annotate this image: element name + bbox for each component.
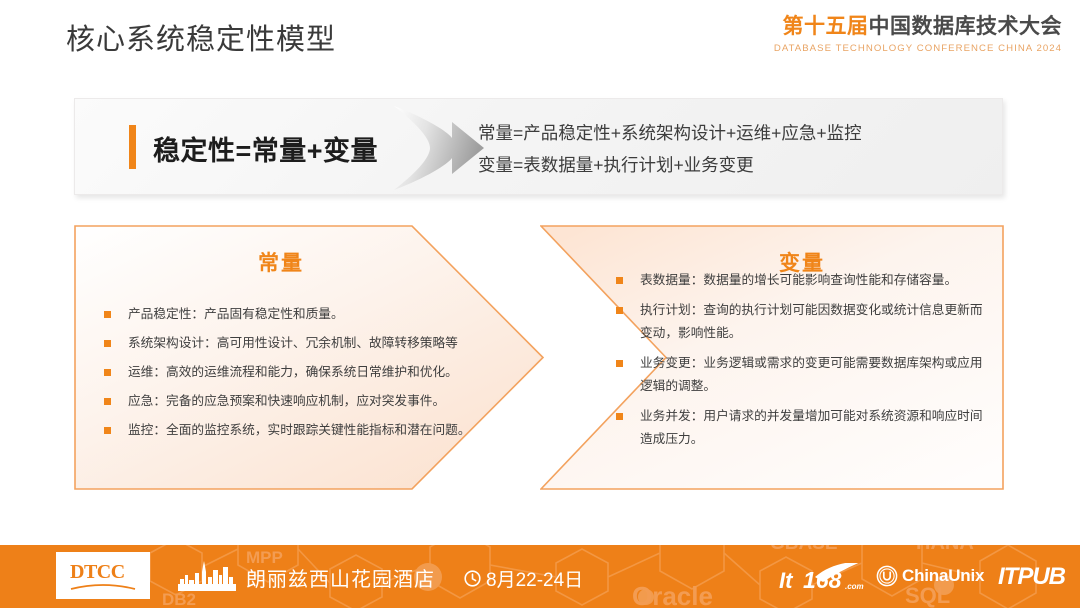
list-item: 业务并发：用户请求的并发量增加可能对系统资源和响应时间造成压力。	[612, 405, 984, 451]
panel-constants-list: 产品稳定性：产品固有稳定性和质量。 系统架构设计：高可用性设计、冗余机制、故障转…	[100, 303, 500, 448]
svg-text:GBASE: GBASE	[770, 545, 838, 554]
list-item: 表数据量：数据量的增长可能影响查询性能和存储容量。	[612, 269, 984, 292]
panel-variables-list: 表数据量：数据量的增长可能影响查询性能和存储容量。 执行计划：查询的执行计划可能…	[612, 269, 984, 458]
conference-name: 第十五届中国数据库技术大会	[774, 16, 1062, 37]
list-item: 执行计划：查询的执行计划可能因数据变化或统计信息更新而变动，影响性能。	[612, 299, 984, 345]
conference-logo: 第十五届中国数据库技术大会 DATABASE TECHNOLOGY CONFER…	[774, 16, 1062, 54]
list-item: 运维：高效的运维流程和能力，确保系统日常维护和优化。	[100, 361, 500, 384]
accent-bar	[129, 125, 136, 169]
list-item: 产品稳定性：产品固有稳定性和质量。	[100, 303, 500, 326]
conference-name-dark: 中国数据库技术大会	[869, 15, 1063, 38]
list-item: 业务变更：业务逻辑或需求的变更可能需要数据库架构或应用逻辑的调整。	[612, 352, 984, 398]
slide-root: 核心系统稳定性模型 第十五届中国数据库技术大会 DATABASE TECHNOL…	[0, 0, 1080, 608]
clock-icon	[464, 570, 481, 587]
panel-variables: 变量 表数据量：数据量的增长可能影响查询性能和存储容量。 执行计划：查询的执行计…	[540, 225, 1004, 490]
svg-text:It: It	[779, 568, 794, 591]
list-item: 应急：完备的应急预案和快速响应机制，应对突发事件。	[100, 390, 500, 413]
list-item: 系统架构设计：高可用性设计、冗余机制、故障转移策略等	[100, 332, 500, 355]
itpub-text: ITPUB	[998, 563, 1065, 590]
chinaunix-logo: ChinaUnix	[876, 565, 984, 587]
footer-venue: 朗丽兹西山花园酒店	[246, 563, 435, 592]
svg-text:HANA: HANA	[916, 545, 974, 554]
svg-text:.com: .com	[845, 582, 864, 591]
itpub-logo: ITPUB	[998, 563, 1065, 591]
dtcc-logo-swoosh	[70, 583, 136, 591]
conference-name-highlight: 第十五届	[783, 15, 869, 38]
chinaunix-text: ChinaUnix	[902, 566, 984, 586]
conference-subtitle: DATABASE TECHNOLOGY CONFERENCE CHINA 202…	[774, 44, 1062, 54]
svg-text:168: 168	[803, 567, 842, 591]
dtcc-logo-text: DTCC	[70, 561, 136, 584]
chinaunix-mark-icon	[876, 565, 898, 587]
panel-constants: 常量 产品稳定性：产品固有稳定性和质量。 系统架构设计：高可用性设计、冗余机制、…	[74, 225, 544, 490]
panel-constants-heading: 常量	[46, 247, 516, 277]
footer-bar: MPP DB2 Oracle SQL HANA GBASE DTCC	[0, 545, 1080, 608]
svg-text:DB2: DB2	[162, 590, 196, 608]
footer-date-group: 8月22-24日	[464, 565, 583, 592]
page-title: 核心系统稳定性模型	[66, 16, 336, 58]
dtcc-logo: DTCC	[56, 552, 150, 599]
svg-text:Oracle: Oracle	[632, 581, 713, 608]
formula-expansion: 常量=产品稳定性+系统架构设计+运维+应急+监控 变量=表数据量+执行计划+业务…	[478, 117, 862, 181]
city-skyline-icon	[178, 561, 236, 591]
formula-expansion-line-1: 常量=产品稳定性+系统架构设计+运维+应急+监控	[478, 123, 862, 143]
formula-equation: 稳定性=常量+变量	[153, 129, 378, 168]
formula-expansion-line-2: 变量=表数据量+执行计划+业务变更	[478, 149, 862, 181]
footer-date: 8月22-24日	[486, 565, 583, 592]
it168-logo: It 168 .com	[779, 563, 869, 591]
list-item: 监控：全面的监控系统，实时跟踪关键性能指标和潜在问题。	[100, 419, 500, 442]
